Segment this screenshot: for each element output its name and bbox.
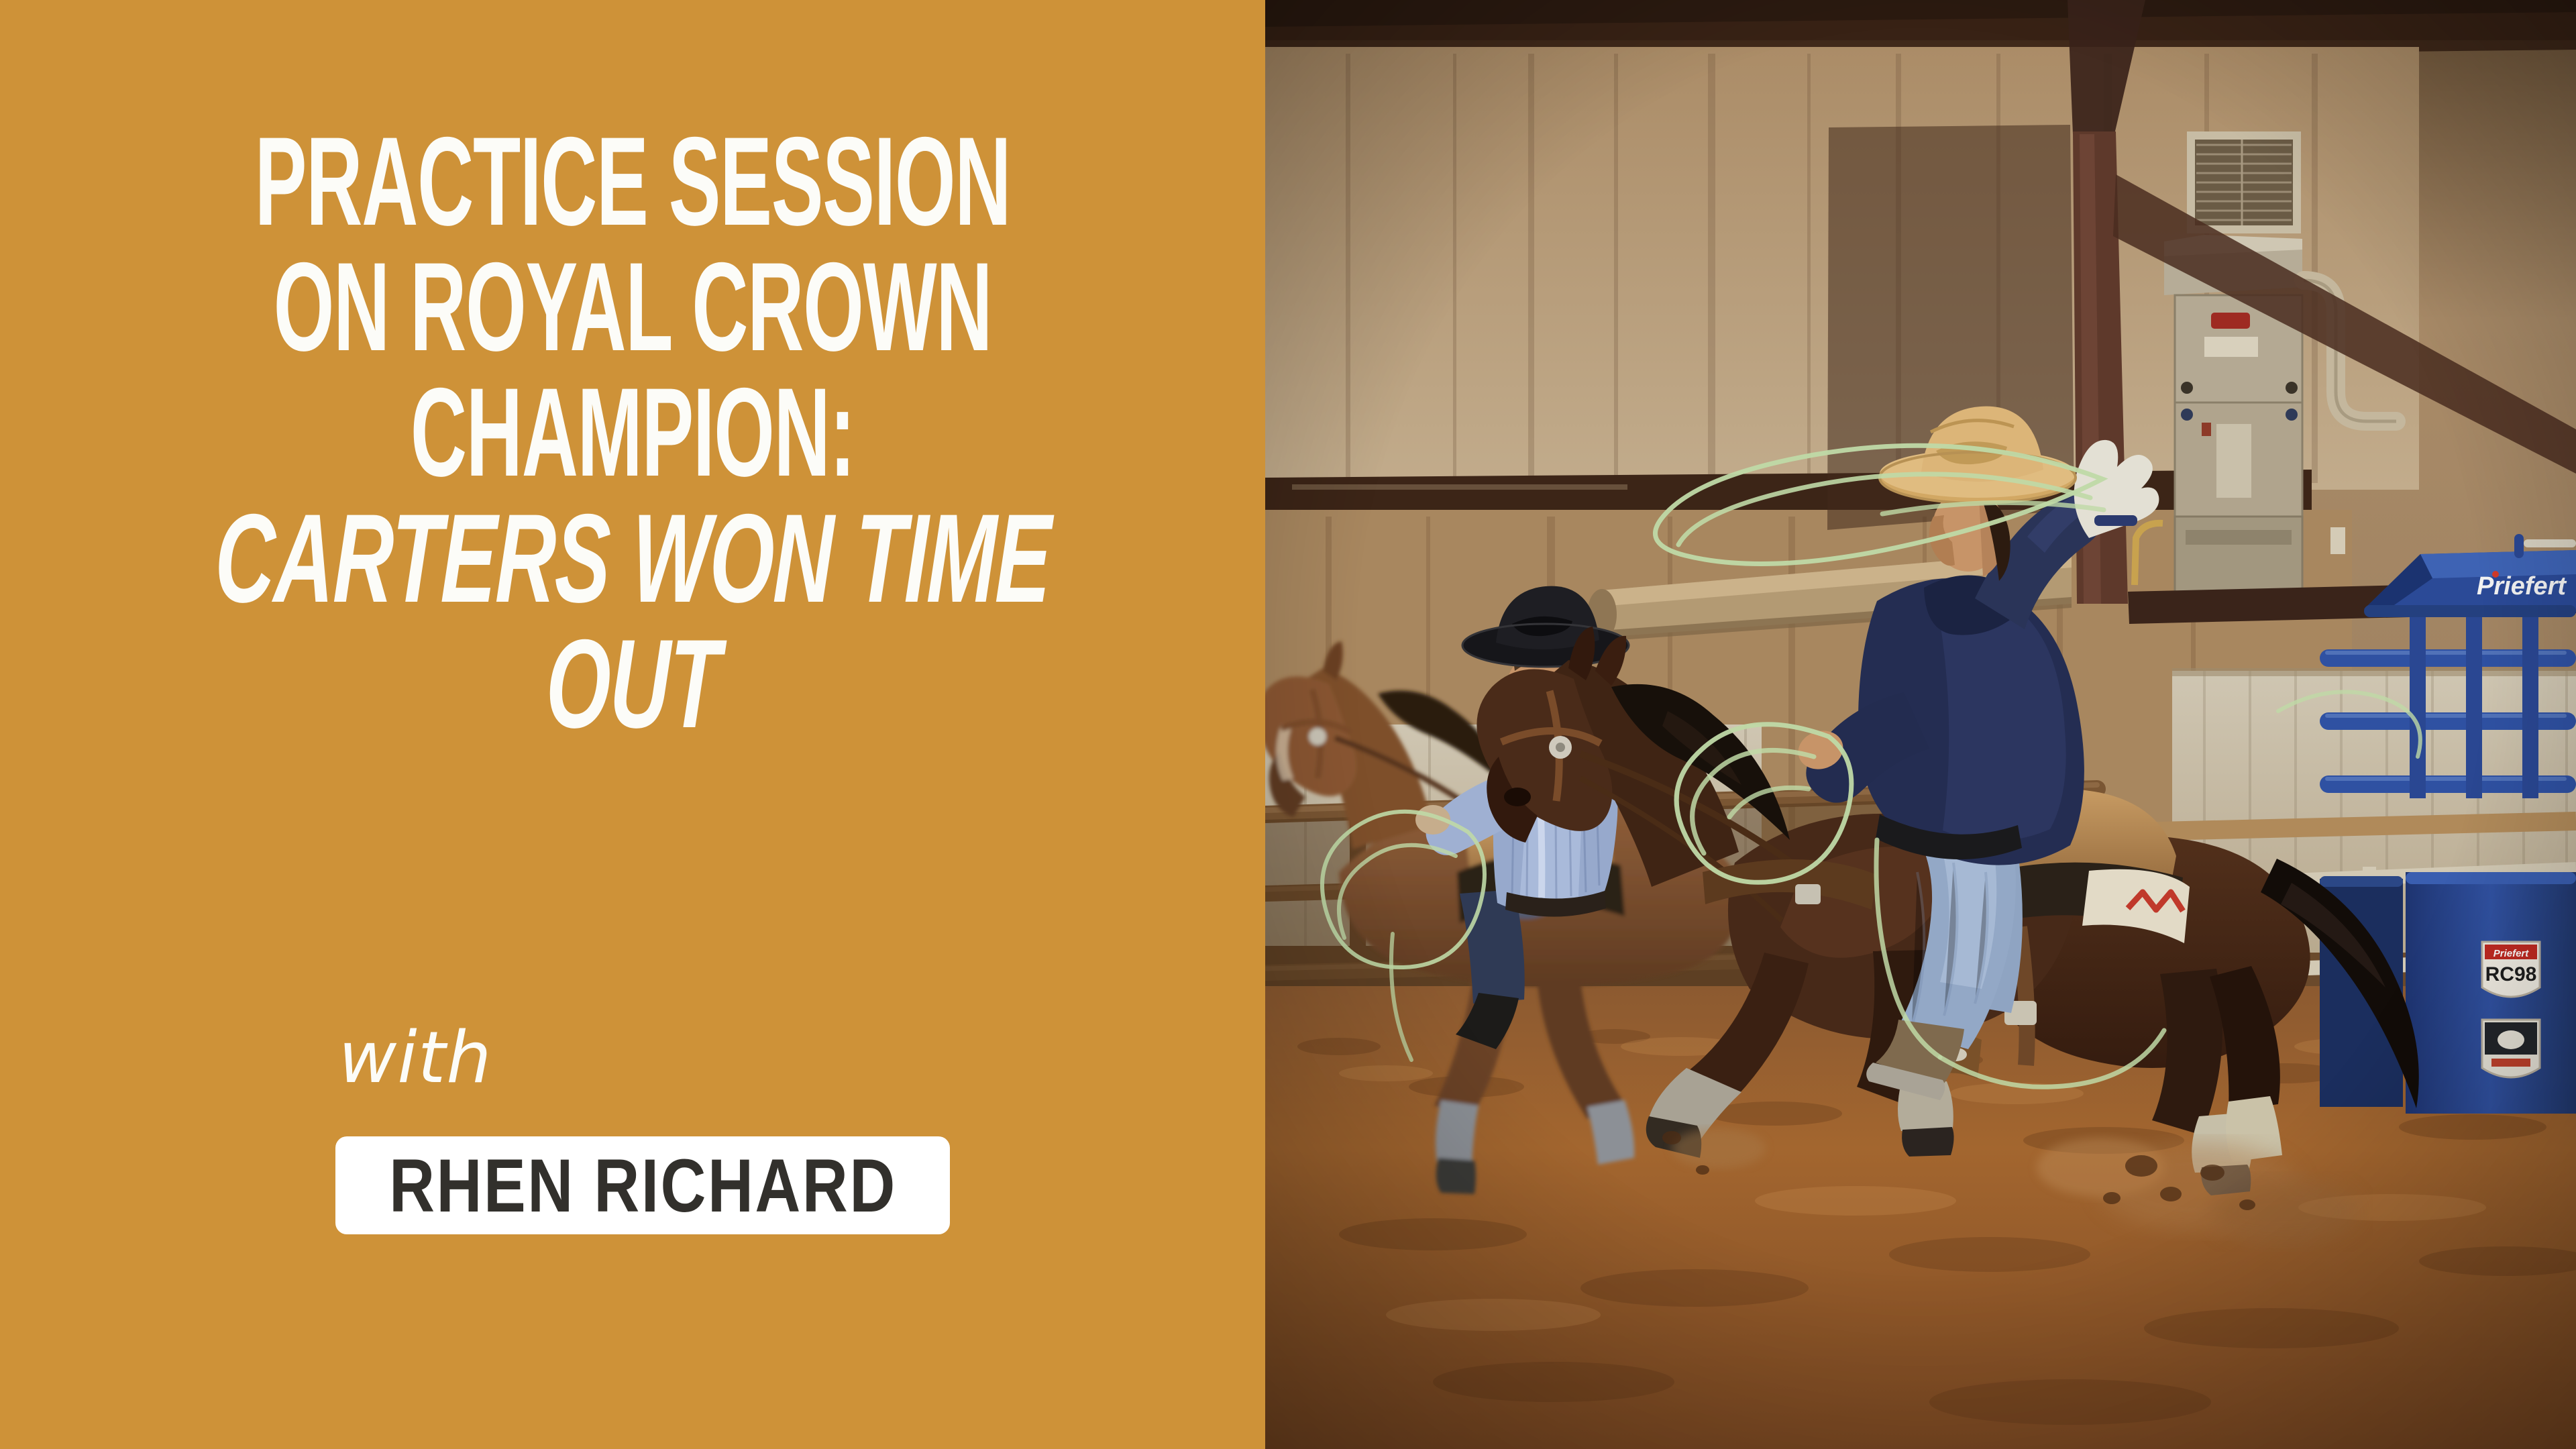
left-gold-panel: PRACTICE SESSION ON ROYAL CROWN CHAMPION…: [0, 0, 1265, 1449]
presenter-name-text: RHEN RICHARD: [389, 1142, 897, 1229]
title-line-2: ON ROYAL CROWN: [240, 250, 1024, 364]
title-line-4: CARTERS WON TIME: [214, 502, 1052, 615]
title-line-1: PRACTICE SESSION: [240, 125, 1024, 238]
page-title: PRACTICE SESSION ON ROYAL CROWN CHAMPION…: [0, 125, 1265, 753]
title-line-5: OUT: [214, 627, 1052, 741]
poster-root: PRACTICE SESSION ON ROYAL CROWN CHAMPION…: [0, 0, 2576, 1449]
title-line-3: CHAMPION:: [240, 376, 1024, 489]
arena-scene-illustration: Priefert Priefert RC98: [1265, 0, 2576, 1449]
with-label: with: [0, 1022, 1048, 1093]
arena-photograph: Priefert Priefert RC98: [1265, 0, 2576, 1449]
presenter-name-badge: RHEN RICHARD: [335, 1136, 950, 1234]
